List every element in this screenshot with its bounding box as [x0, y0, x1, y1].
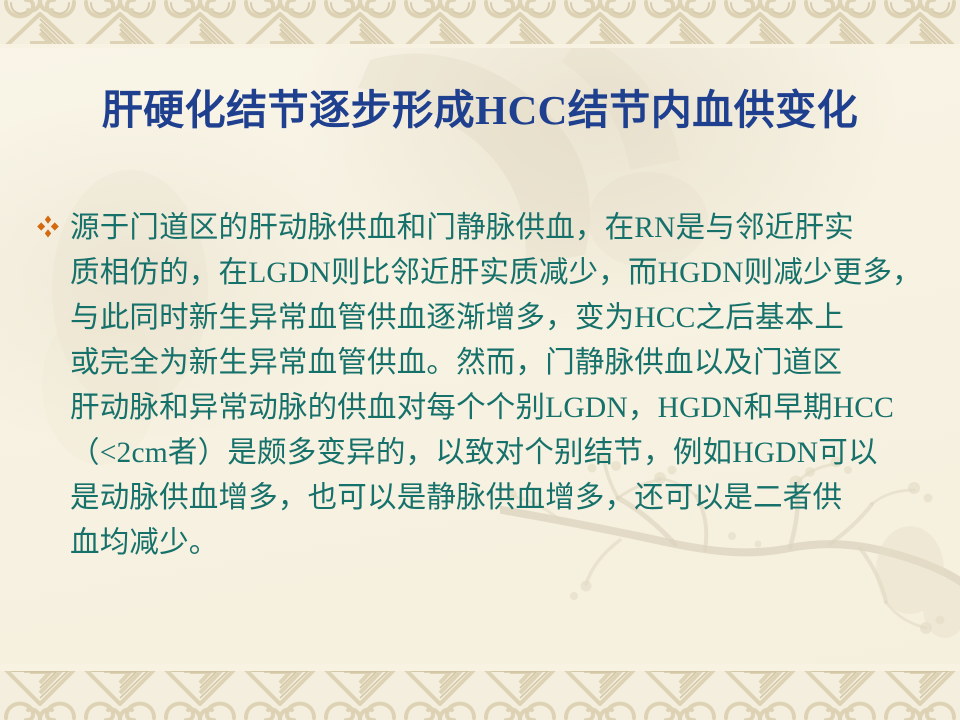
body-line: 肝动脉和异常动脉的供血对每个个别LGDN，HGDN和早期HCC — [70, 386, 926, 431]
body-line: 与此同时新生异常血管供血逐渐增多，变为HCC之后基本上 — [70, 296, 926, 341]
body-paragraph: 源于门道区的肝动脉供血和门静脉供血，在RN是与邻近肝实 质相仿的，在LGDN则比… — [70, 206, 926, 566]
celtic-knot-border-top — [0, 0, 960, 48]
presentation-slide: 肝硬化结节逐步形成HCC结节内血供变化 源于门道区的肝动脉供血和门静脉供血，在R… — [0, 0, 960, 720]
body-line: 质相仿的，在LGDN则比邻近肝实质减少，而HGDN则减少更多， — [70, 251, 926, 296]
celtic-knot-border-bottom — [0, 664, 960, 720]
body-content-block: 源于门道区的肝动脉供血和门静脉供血，在RN是与邻近肝实 质相仿的，在LGDN则比… — [36, 206, 926, 566]
slide-title: 肝硬化结节逐步形成HCC结节内血供变化 — [0, 86, 960, 134]
body-line: 或完全为新生异常血管供血。然而，门静脉供血以及门道区 — [70, 341, 926, 386]
body-line: 血均减少。 — [70, 521, 926, 566]
body-line: 源于门道区的肝动脉供血和门静脉供血，在RN是与邻近肝实 — [70, 206, 926, 251]
body-line: 是动脉供血增多，也可以是静脉供血增多，还可以是二者供 — [70, 476, 926, 521]
diamond-cluster-bullet-icon — [36, 206, 70, 239]
body-line: （<2cm者）是颇多变异的，以致对个别结节，例如HGDN可以 — [70, 431, 926, 476]
